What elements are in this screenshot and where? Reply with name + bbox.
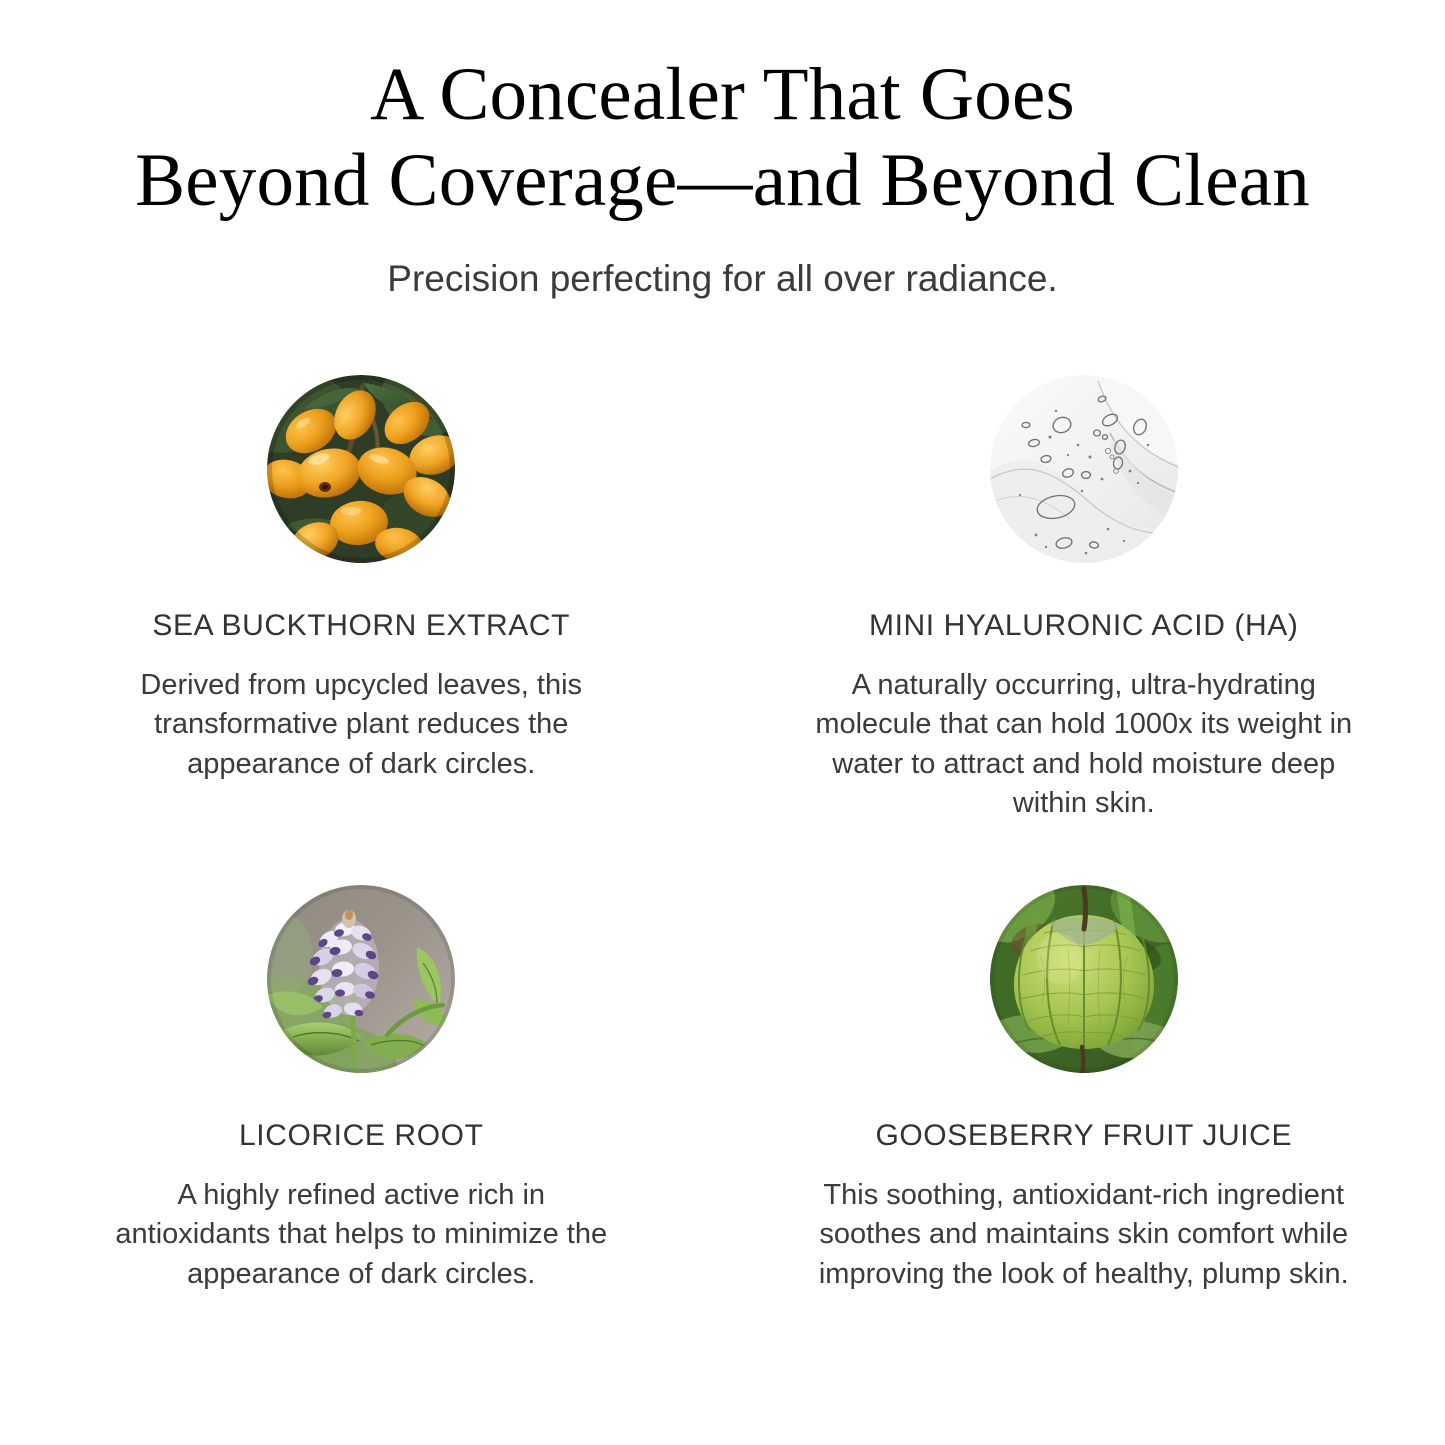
ingredient-description: Derived from upcycled leaves, this trans… <box>101 642 621 784</box>
ingredient-grid: SEA BUCKTHORN EXTRACT Derived from upcyc… <box>0 355 1445 1379</box>
ingredient-title: SEA BUCKTHORN EXTRACT <box>152 563 570 642</box>
ingredient-card-licorice-root: LICORICE ROOT A highly refined active ri… <box>0 867 723 1379</box>
ingredient-card-hyaluronic-acid: MINI HYALURONIC ACID (HA) A naturally oc… <box>723 355 1445 867</box>
ingredient-card-gooseberry: GOOSEBERRY FRUIT JUICE This soothing, an… <box>723 867 1445 1379</box>
gooseberry-husk-image <box>990 885 1178 1073</box>
ingredient-description: This soothing, antioxidant-rich ingredie… <box>804 1152 1364 1294</box>
sea-buckthorn-berries-image <box>267 375 455 563</box>
ingredient-title: LICORICE ROOT <box>239 1073 484 1152</box>
page-subtitle: Precision perfecting for all over radian… <box>0 223 1445 301</box>
page-title: A Concealer That Goes Beyond Coverage—an… <box>0 52 1445 223</box>
ingredient-card-sea-buckthorn: SEA BUCKTHORN EXTRACT Derived from upcyc… <box>0 355 723 867</box>
ingredient-title: MINI HYALURONIC ACID (HA) <box>869 563 1298 642</box>
page-header: A Concealer That Goes Beyond Coverage—an… <box>0 52 1445 301</box>
page-title-line-1: A Concealer That Goes <box>40 52 1405 138</box>
ingredient-description: A highly refined active rich in antioxid… <box>101 1152 621 1294</box>
ingredient-benefits-infographic: A Concealer That Goes Beyond Coverage—an… <box>0 0 1445 1445</box>
page-title-line-2: Beyond Coverage—and Beyond Clean <box>40 138 1405 224</box>
ingredient-description: A naturally occurring, ultra-hydrating m… <box>804 642 1364 824</box>
ingredient-title: GOOSEBERRY FRUIT JUICE <box>875 1073 1292 1152</box>
licorice-root-flower-image <box>267 885 455 1073</box>
hyaluronic-acid-gel-image <box>990 375 1178 563</box>
